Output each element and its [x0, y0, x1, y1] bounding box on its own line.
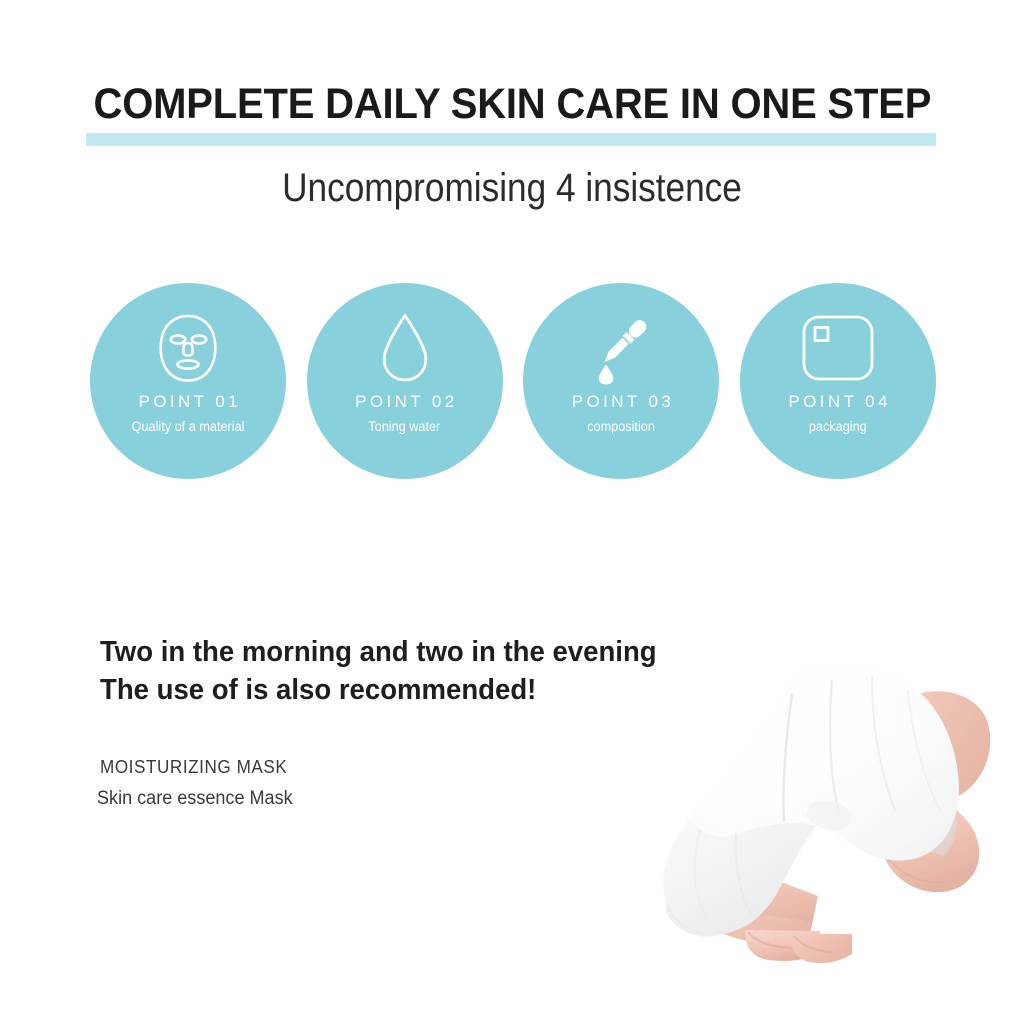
- product-photo: [596, 634, 996, 994]
- pouch-packaging-card: POINT 04 packaging: [740, 283, 936, 479]
- pouch-packaging-icon: [801, 310, 875, 386]
- point-card-02: POINT 02 Toning water: [307, 283, 503, 479]
- dropper-pipette-icon: [586, 310, 656, 386]
- point-desc-01: Quality of a material: [132, 419, 245, 434]
- point-label-03: POINT 03: [568, 392, 674, 412]
- points-row: POINT 01 Quality of a material POINT 02 …: [90, 283, 936, 479]
- page-title-wrap: COMPLETE DAILY SKIN CARE IN ONE STEP: [0, 82, 1024, 127]
- product-name: MOISTURIZING MASK: [100, 757, 499, 778]
- point-card-03: POINT 03 composition: [523, 283, 719, 479]
- page-title: COMPLETE DAILY SKIN CARE IN ONE STEP: [93, 82, 931, 127]
- water-droplet-icon: [378, 310, 432, 386]
- point-label-02: POINT 02: [352, 392, 458, 412]
- header-section: COMPLETE DAILY SKIN CARE IN ONE STEP Unc…: [0, 0, 1024, 250]
- product-names: MOISTURIZING MASK Skin care essence Mask: [100, 757, 520, 810]
- face-mask-sheet-icon: [155, 310, 221, 386]
- title-highlight-bar: [86, 133, 936, 146]
- point-desc-03: composition: [587, 419, 655, 434]
- point-card-01: POINT 01 Quality of a material: [90, 283, 286, 479]
- point-desc-04: packaging: [809, 419, 867, 434]
- point-desc-02: Toning water: [369, 419, 441, 434]
- point-label-01: POINT 01: [135, 392, 241, 412]
- point-label-04: POINT 04: [785, 392, 891, 412]
- product-subname: Skin care essence Mask: [97, 788, 499, 810]
- page-subtitle: Uncompromising 4 insistence: [61, 166, 962, 211]
